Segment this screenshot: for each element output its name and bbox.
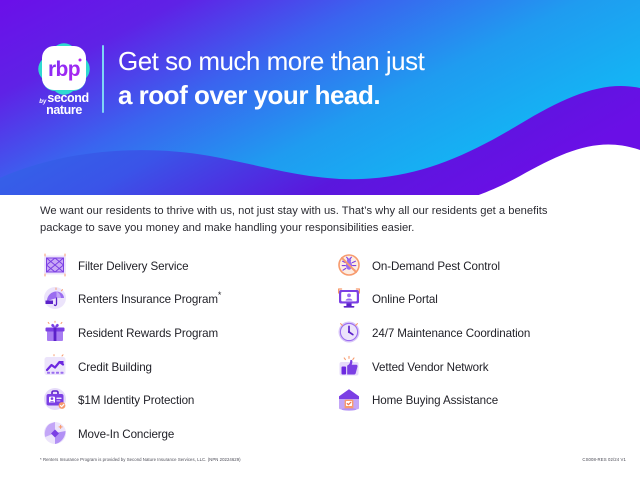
benefits-column-left: Filter Delivery Service Renters Insuranc… <box>42 248 332 450</box>
umbrella-icon <box>42 285 68 311</box>
logo-by-text: by <box>39 99 46 105</box>
benefit-online-portal: Online Portal <box>336 282 626 316</box>
rbp-logo-mark: rbp <box>33 40 95 96</box>
id-badge-lock-icon <box>42 386 68 412</box>
benefit-label: $1M Identity Protection <box>78 391 194 407</box>
headline-line-1: Get so much more than just <box>118 44 424 78</box>
svg-text:rbp: rbp <box>48 58 80 81</box>
footnote-text: * Renters Insurance Program is provided … <box>40 457 241 462</box>
benefit-home-buying-assistance: Home Buying Assistance <box>336 382 626 416</box>
air-filter-icon <box>42 252 68 278</box>
thumbs-up-icon <box>336 353 362 379</box>
house-icon <box>336 386 362 412</box>
benefit-maintenance-coordination: 24/7 Maintenance Coordination <box>336 315 626 349</box>
document-code: CS008-RES 02/24 V1 <box>582 457 626 462</box>
benefit-vetted-vendor-network: Vetted Vendor Network <box>336 349 626 383</box>
benefits-flyer: rbp bysecond nature Get so much more tha… <box>0 0 640 480</box>
header-divider <box>102 45 104 113</box>
rbp-logo: rbp bysecond nature <box>33 40 95 118</box>
benefit-on-demand-pest-control: On-Demand Pest Control <box>336 248 626 282</box>
benefit-move-in-concierge: Move-In Concierge <box>42 416 332 450</box>
benefit-label: Renters Insurance Program* <box>78 290 221 306</box>
benefit-filter-delivery-service: Filter Delivery Service <box>42 248 332 282</box>
monitor-portal-icon <box>336 285 362 311</box>
no-pest-icon <box>336 252 362 278</box>
headline: Get so much more than just a roof over y… <box>118 44 424 113</box>
credit-chart-icon <box>42 353 68 379</box>
gift-icon <box>42 319 68 345</box>
benefit-label: Move-In Concierge <box>78 425 174 441</box>
clock-icon <box>336 319 362 345</box>
benefit-label: Filter Delivery Service <box>78 257 188 273</box>
benefit-label: 24/7 Maintenance Coordination <box>372 324 530 340</box>
rbp-badge-icon: rbp <box>33 40 95 96</box>
benefit-label: Resident Rewards Program <box>78 324 218 340</box>
intro-paragraph: We want our residents to thrive with us,… <box>40 203 592 238</box>
concierge-diamond-icon <box>42 420 68 446</box>
benefit-renters-insurance-program: Renters Insurance Program* <box>42 282 332 316</box>
benefit-label: Credit Building <box>78 358 152 374</box>
benefit-label: Online Portal <box>372 290 438 306</box>
benefit-resident-rewards-program: Resident Rewards Program <box>42 315 332 349</box>
benefit-label: On-Demand Pest Control <box>372 257 500 273</box>
benefits-column-right: On-Demand Pest Control Online Por <box>336 248 626 416</box>
benefit-credit-building: Credit Building <box>42 349 332 383</box>
benefit-identity-protection: $1M Identity Protection <box>42 382 332 416</box>
benefit-label: Vetted Vendor Network <box>372 358 489 374</box>
logo-nature-text: nature <box>33 104 95 117</box>
rbp-logo-subtitle: bysecond nature <box>33 90 95 117</box>
benefit-label: Home Buying Assistance <box>372 391 498 407</box>
headline-line-2: a roof over your head. <box>118 78 424 112</box>
